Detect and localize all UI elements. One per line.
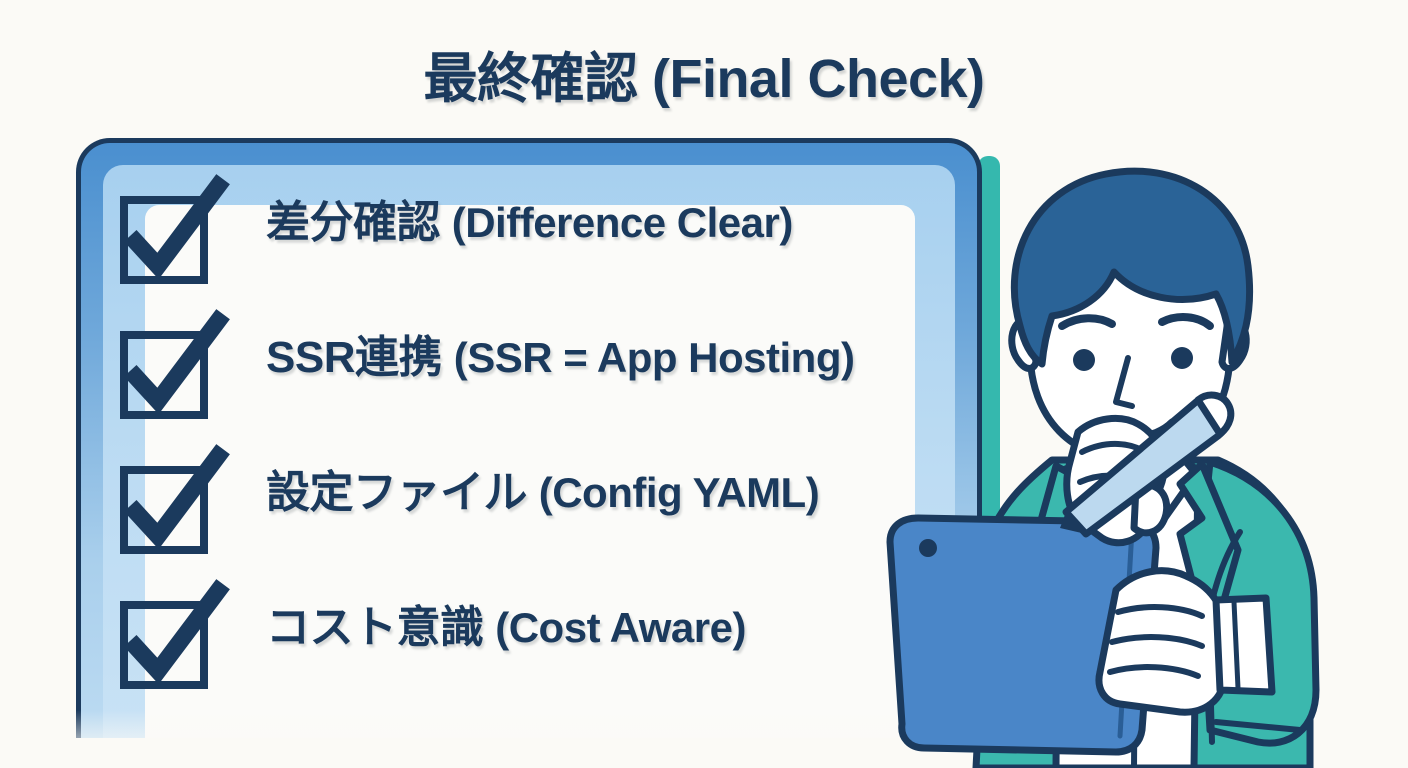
checked-checkbox-icon[interactable] — [118, 595, 214, 691]
tablet-camera-dot — [919, 539, 937, 557]
checklist-item-label-jp: コスト意識 — [266, 603, 484, 652]
checked-checkbox-icon[interactable] — [118, 325, 214, 421]
checklist-item-label: コスト意識 (Cost Aware) — [266, 603, 746, 654]
checked-checkbox-icon[interactable] — [118, 460, 214, 556]
checklist-item-label-jp: 設定ファイル — [266, 468, 527, 517]
checklist-item-label-en: (SSR = App Hosting) — [454, 334, 855, 381]
shirt-cuff-lower — [1216, 598, 1272, 692]
checklist-item-label-en: (Cost Aware) — [495, 604, 746, 651]
checklist-item-label: 設定ファイル (Config YAML) — [266, 468, 819, 519]
checklist-item-difference-clear[interactable]: 差分確認 (Difference Clear) — [118, 186, 978, 321]
checklist-item-label-jp: SSR連携 — [266, 333, 442, 382]
person-illustration — [880, 130, 1408, 768]
slide-canvas: 最終確認 (Final Check) 差分確認 (Difference Clea… — [0, 0, 1408, 768]
eye-left — [1073, 349, 1095, 371]
checklist-item-label-en: (Config YAML) — [539, 469, 819, 516]
checklist-item-ssr-app-hosting[interactable]: SSR連携 (SSR = App Hosting) — [118, 321, 978, 456]
checklist: 差分確認 (Difference Clear) SSR連携 (SSR = App… — [118, 186, 978, 726]
checklist-item-label-en: (Difference Clear) — [452, 199, 793, 246]
checklist-item-label: SSR連携 (SSR = App Hosting) — [266, 333, 854, 384]
page-title: 最終確認 (Final Check) — [0, 34, 1408, 113]
eye-right — [1171, 347, 1193, 369]
checklist-item-label: 差分確認 (Difference Clear) — [266, 198, 793, 249]
checklist-item-cost-aware[interactable]: コスト意識 (Cost Aware) — [118, 591, 978, 726]
checklist-item-config-yaml[interactable]: 設定ファイル (Config YAML) — [118, 456, 978, 591]
checked-checkbox-icon[interactable] — [118, 190, 214, 286]
checklist-item-label-jp: 差分確認 — [266, 198, 440, 247]
